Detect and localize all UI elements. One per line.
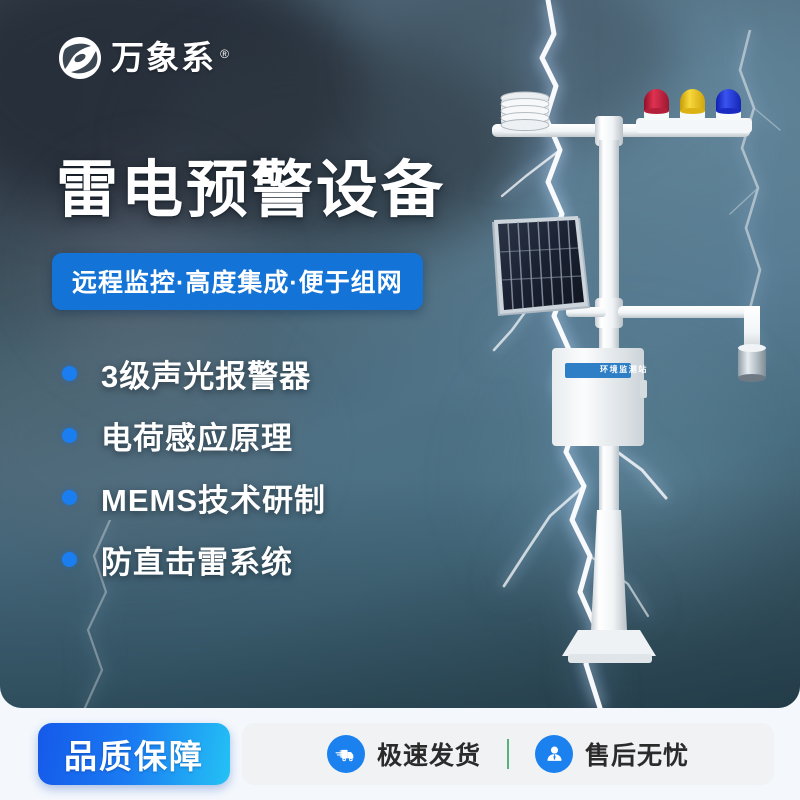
list-item: 防直击雷系统 bbox=[62, 528, 326, 590]
quality-guarantee-label: 品质保障 bbox=[64, 730, 204, 778]
alarm-beacon-red bbox=[644, 89, 669, 120]
cylindrical-field-mill-sensor bbox=[738, 348, 766, 378]
service-label: 极速发货 bbox=[377, 736, 481, 772]
bullet-dot-icon bbox=[62, 428, 77, 443]
product-poster: 环境监测站 万象系 ® 雷电预警设备 远程监控·高度集成·便于组网 3级声光报警… bbox=[0, 0, 800, 800]
swirl-sphere-logo-icon bbox=[58, 36, 102, 80]
mast-taper bbox=[591, 510, 627, 630]
feature-label: 防直击雷系统 bbox=[101, 537, 293, 582]
service-item-fast-shipping[interactable]: 极速发货 bbox=[301, 735, 507, 773]
storm-sky-background: 环境监测站 万象系 ® 雷电预警设备 远程监控·高度集成·便于组网 3级声光报警… bbox=[0, 0, 800, 708]
bullet-dot-icon bbox=[62, 490, 77, 505]
lower-cross-arm bbox=[618, 306, 760, 318]
solar-panel bbox=[492, 216, 590, 316]
brand-name: 万象系 bbox=[111, 39, 216, 76]
divider bbox=[507, 739, 509, 769]
quality-guarantee-button[interactable]: 品质保障 bbox=[38, 723, 230, 785]
brand-name-wrapper: 万象系 ® bbox=[111, 36, 216, 80]
subtitle-badge: 远程监控·高度集成·便于组网 bbox=[52, 253, 423, 310]
service-item-after-sales[interactable]: 售后无忧 bbox=[509, 735, 715, 773]
alarm-beacon-blue bbox=[716, 89, 741, 120]
customer-service-agent-icon bbox=[535, 735, 573, 773]
service-items-group: 极速发货 售后无忧 bbox=[242, 723, 774, 785]
feature-label: MEMS技术研制 bbox=[101, 475, 326, 520]
bullet-dot-icon bbox=[62, 552, 77, 567]
delivery-truck-icon bbox=[327, 735, 365, 773]
registered-trademark-icon: ® bbox=[220, 32, 229, 76]
list-item: MEMS技术研制 bbox=[62, 466, 326, 528]
mast-base-plate bbox=[562, 630, 656, 656]
feature-label: 3级声光报警器 bbox=[101, 351, 311, 396]
brand-logo: 万象系 ® bbox=[58, 36, 216, 80]
lightning-warning-device bbox=[440, 80, 800, 700]
list-item: 3级声光报警器 bbox=[62, 342, 326, 404]
control-box-label: 环境监测站 bbox=[591, 362, 657, 377]
page-title: 雷电预警设备 bbox=[56, 158, 446, 225]
feature-label: 电荷感应原理 bbox=[101, 413, 293, 458]
feature-list: 3级声光报警器 电荷感应原理 MEMS技术研制 防直击雷系统 bbox=[62, 342, 326, 590]
radiation-shield-sensor bbox=[501, 92, 549, 133]
alarm-beacon-yellow bbox=[680, 89, 705, 120]
list-item: 电荷感应原理 bbox=[62, 404, 326, 466]
trust-bar: 品质保障 极速发货 bbox=[0, 708, 800, 800]
bullet-dot-icon bbox=[62, 366, 77, 381]
beacon-mount-bar bbox=[636, 118, 752, 133]
service-label: 售后无忧 bbox=[585, 736, 689, 772]
